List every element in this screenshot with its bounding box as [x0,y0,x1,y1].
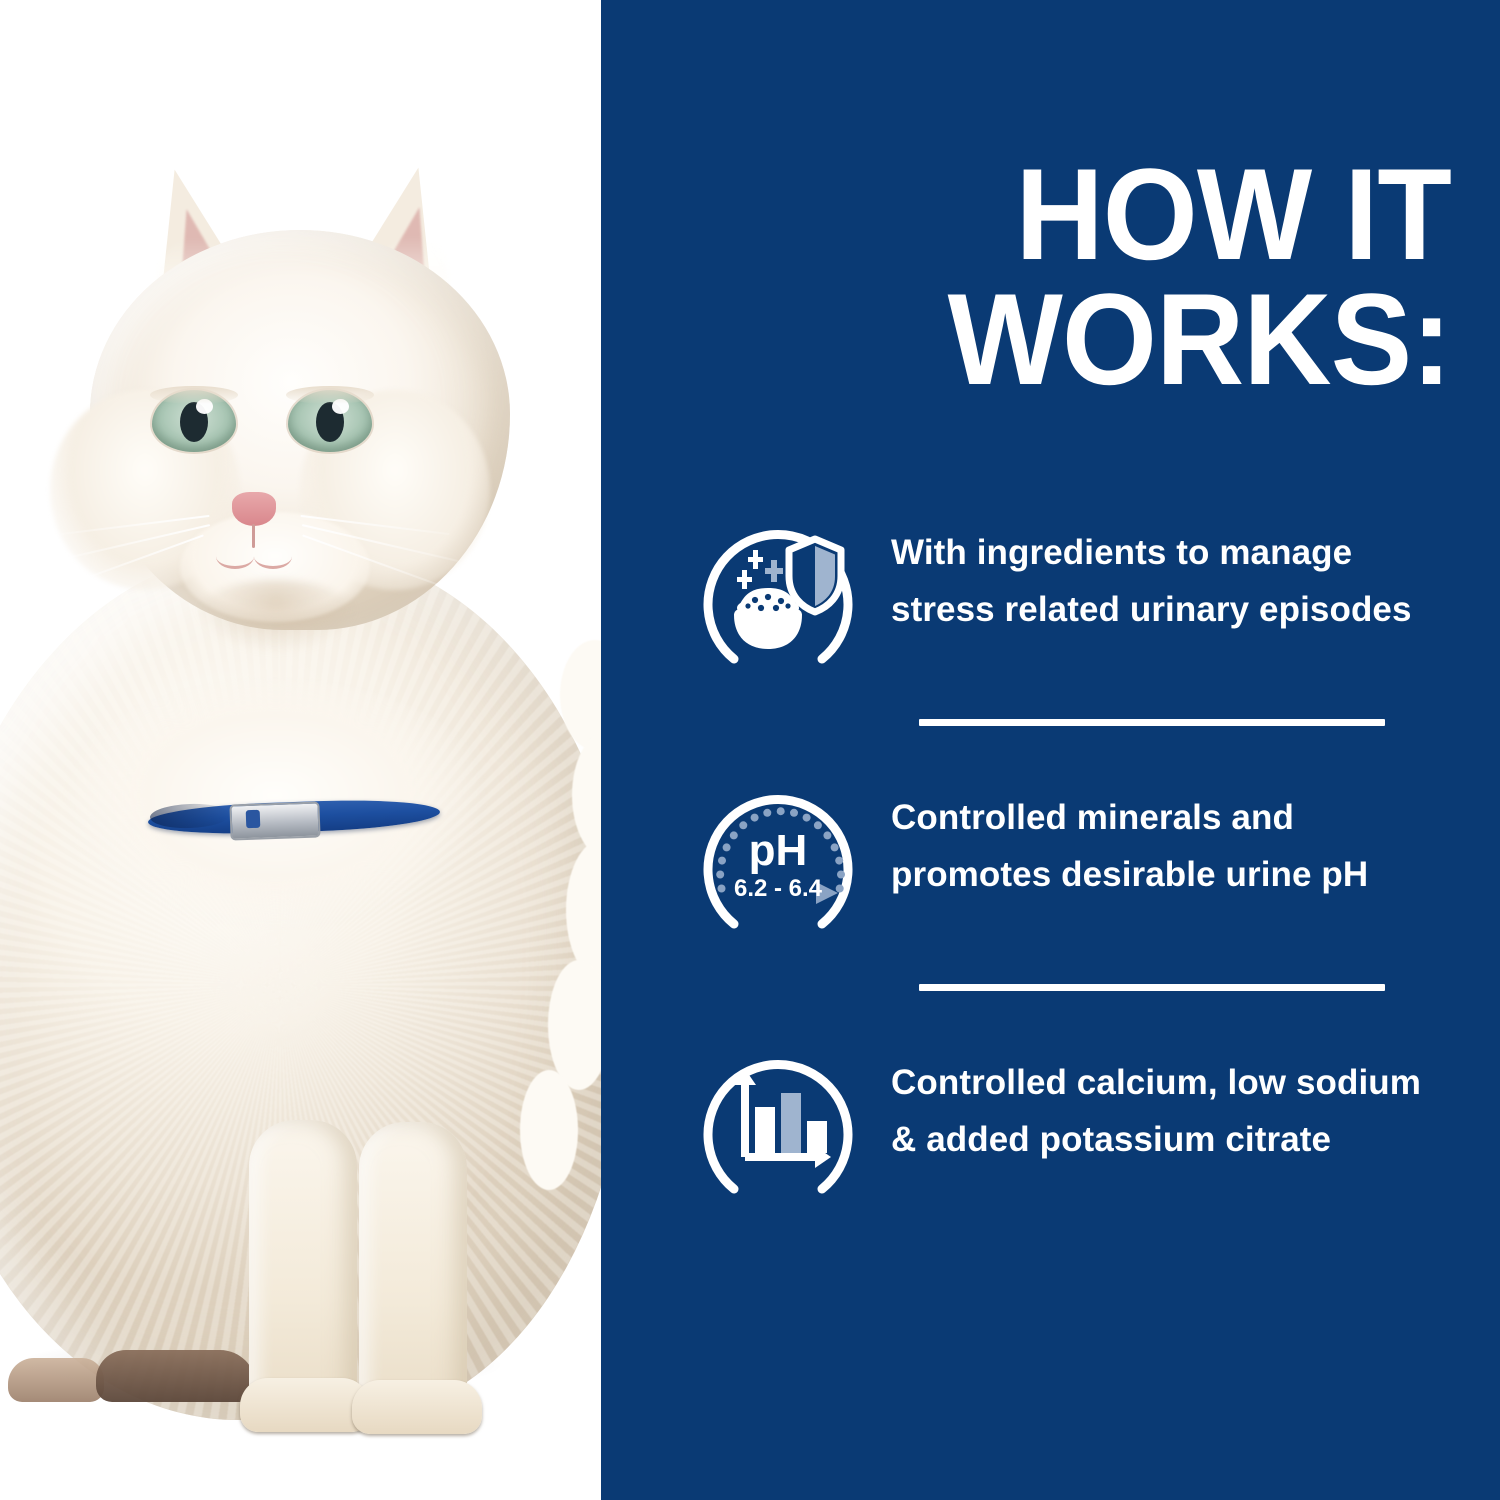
content-pane: HOW IT WORKS: [601,0,1500,1500]
ph-gauge-icon: pH 6.2 - 6.4 [693,770,863,940]
cat-photo [0,120,640,1420]
cat-nose [232,492,276,526]
cat-front-paw-left [240,1378,370,1432]
cat-hind-paw-far [8,1358,104,1402]
cat-hind-paw [96,1350,256,1402]
feature-item-ingredients: With ingredients to manage stress relate… [601,505,1500,675]
cat-mouth-right [254,544,292,569]
food-bowl-shield-icon [693,505,863,675]
cat-fur-wisp [520,1070,578,1190]
page-title: HOW IT WORKS: [708,152,1451,402]
cat-mouth-left [216,544,254,569]
cat-front-leg-right [359,1122,467,1422]
feature-divider [919,984,1385,991]
how-it-works-panel: HOW IT WORKS: [0,0,1500,1500]
cat-eyelid-right [286,386,374,404]
feature-text-ingredients: With ingredients to manage stress relate… [891,505,1500,638]
feature-list: With ingredients to manage stress relate… [601,505,1500,1205]
ph-icon-primary-text: pH [749,826,808,875]
cat-collar-buckle-hole [246,810,261,828]
cat-eyelid-left [150,386,238,404]
cat-chest-ruff [40,680,510,1010]
feature-divider [919,719,1385,726]
cat-front-leg-left [249,1120,357,1420]
ph-icon-secondary-text: 6.2 - 6.4 [734,875,823,902]
page-title-line2: WORKS: [708,277,1451,402]
cat-collar-buckle [229,801,320,840]
feature-text-minerals: Controlled calcium, low sodium & added p… [891,1035,1500,1168]
cat-eye-right [288,390,372,452]
cat-eye-left [152,390,236,452]
cat-front-paw-right [352,1380,482,1434]
cat-photo-pane [0,0,601,1500]
feature-item-ph: pH 6.2 - 6.4 Controlled minerals and pro… [601,770,1500,940]
feature-text-ph: Controlled minerals and promotes desirab… [891,770,1500,903]
cat-chin-shadow [196,580,356,652]
feature-item-minerals: Controlled calcium, low sodium & added p… [601,1035,1500,1205]
bar-chart-icon [693,1035,863,1205]
